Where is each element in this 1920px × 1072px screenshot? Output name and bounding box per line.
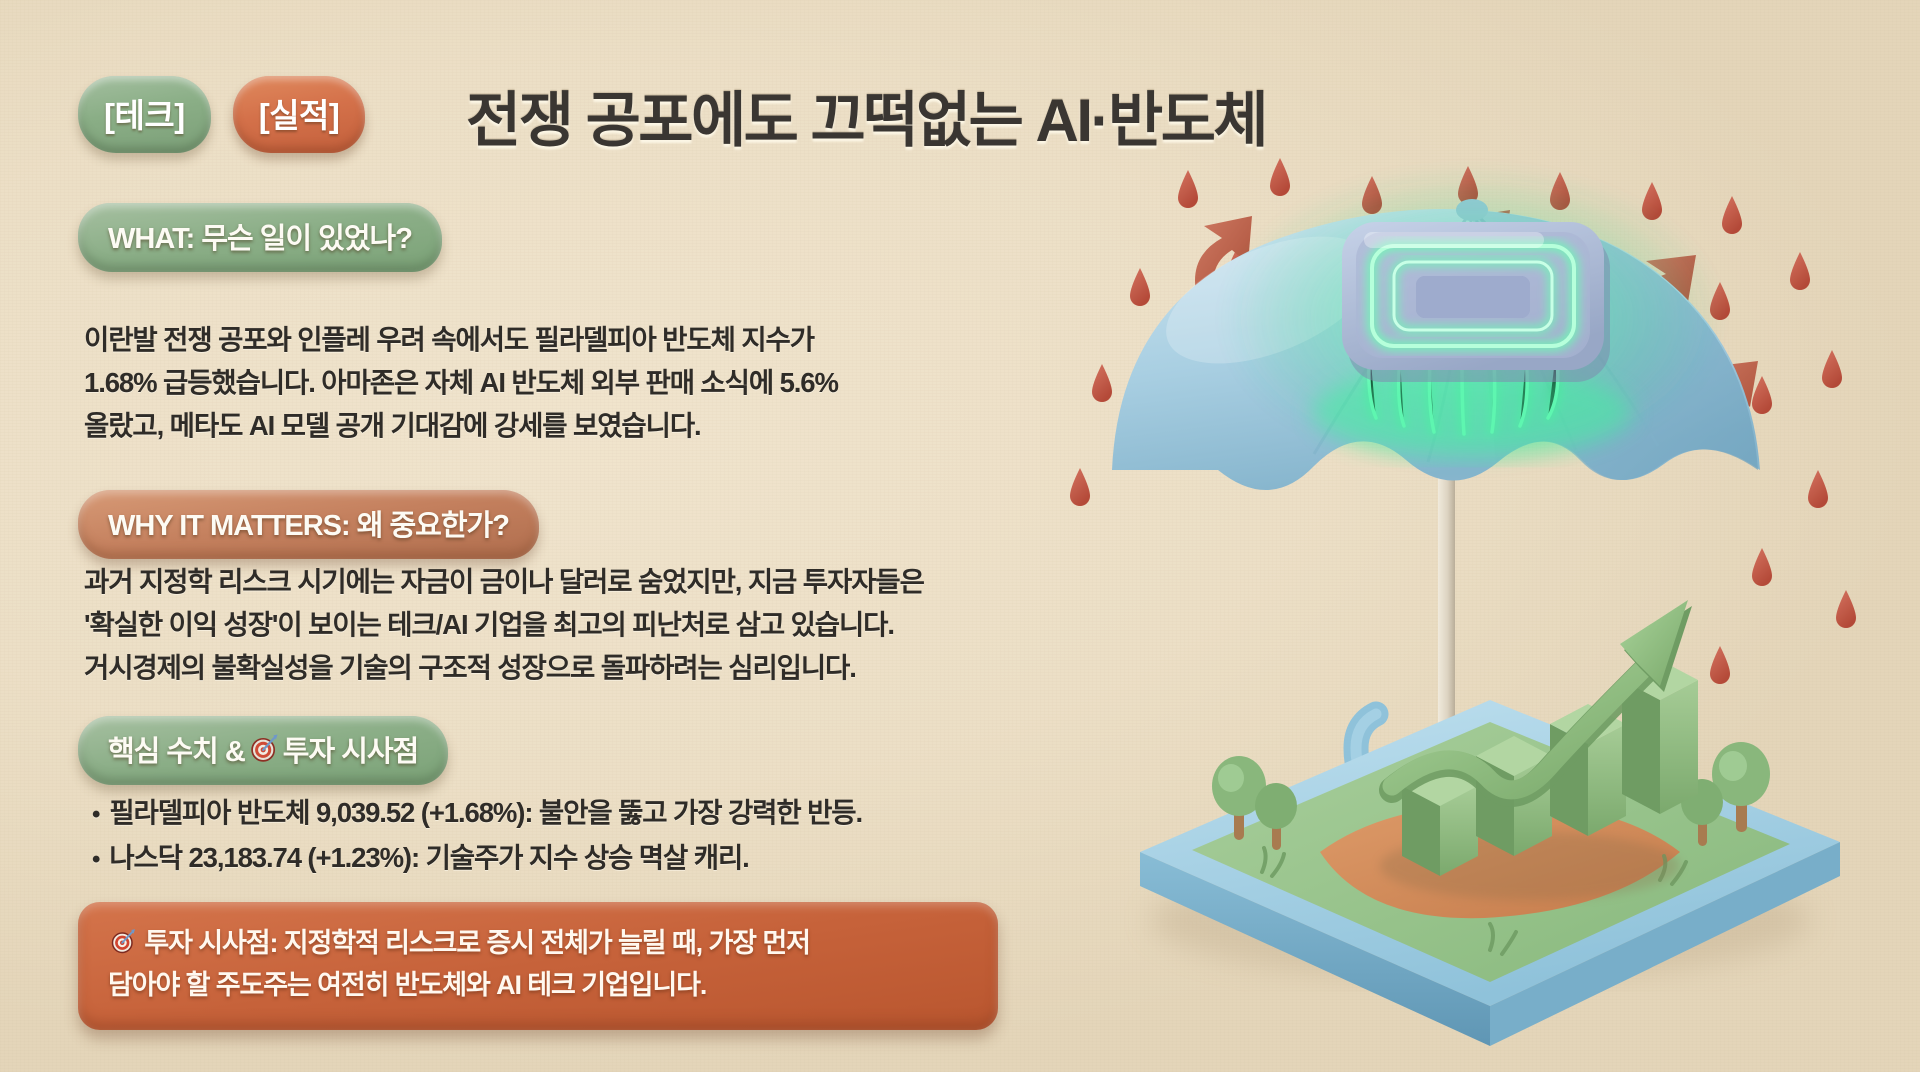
what-line-1: 이란발 전쟁 공포와 인플레 우려 속에서도 필라델피아 반도체 지수가 <box>84 318 838 361</box>
callout-line-2: 담아야 할 주도주는 여전히 반도체와 AI 테크 기업입니다. <box>108 964 968 1006</box>
section-badge-key-numbers: 핵심 수치 & 투자 시사점 <box>78 716 448 785</box>
illustration-umbrella-chip-chart <box>1020 0 1920 1072</box>
dart-target-icon <box>108 927 138 957</box>
dart-target-icon <box>247 732 281 766</box>
bullet-text: 나스닥 23,183.74 (+1.23%): 기술주가 지수 상승 멱살 캐리… <box>109 835 748 880</box>
callout-line-1: 투자 시사점: 지정학적 리스크로 증시 전체가 늘릴 때, 가장 먼저 <box>108 922 968 964</box>
list-item: • 필라델피아 반도체 9,039.52 (+1.68%): 불안을 뚫고 가장… <box>92 790 862 835</box>
bullet-marker: • <box>92 803 99 827</box>
why-line-3: 거시경제의 불확실성을 기술의 구조적 성장으로 돌파하려는 심리입니다. <box>84 646 924 689</box>
why-line-2: '확실한 이익 성장'이 보이는 테크/AI 기업을 최고의 피난처로 삼고 있… <box>84 603 924 646</box>
key-numbers-list: • 필라델피아 반도체 9,039.52 (+1.68%): 불안을 뚫고 가장… <box>92 790 862 880</box>
callout-text-1: 투자 시사점: 지정학적 리스크로 증시 전체가 늘릴 때, 가장 먼저 <box>138 928 810 958</box>
what-line-2: 1.68% 급등했습니다. 아마존은 자체 AI 반도체 외부 판매 소식에 5… <box>84 361 838 404</box>
section-body-why: 과거 지정학 리스크 시기에는 자금이 금이나 달러로 숨었지만, 지금 투자자… <box>84 560 924 689</box>
why-line-1: 과거 지정학 리스크 시기에는 자금이 금이나 달러로 숨었지만, 지금 투자자… <box>84 560 924 603</box>
section-badge-what: WHAT: 무슨 일이 있었나? <box>78 203 442 272</box>
what-line-3: 올랐고, 메타도 AI 모델 공개 기대감에 강세를 보였습니다. <box>84 404 838 447</box>
list-item: • 나스닥 23,183.74 (+1.23%): 기술주가 지수 상승 멱살 … <box>92 835 862 880</box>
tag-tech[interactable]: [테크] <box>78 76 211 153</box>
key-numbers-badge-suffix: 투자 시사점 <box>283 728 418 770</box>
bullet-text: 필라델피아 반도체 9,039.52 (+1.68%): 불안을 뚫고 가장 강… <box>109 790 862 835</box>
tag-row: [테크] [실적] <box>78 76 365 153</box>
section-badge-why: WHY IT MATTERS: 왜 중요한가? <box>78 490 539 559</box>
section-body-what: 이란발 전쟁 공포와 인플레 우려 속에서도 필라델피아 반도체 지수가 1.6… <box>84 318 838 447</box>
investment-callout: 투자 시사점: 지정학적 리스크로 증시 전체가 늘릴 때, 가장 먼저 담아야… <box>78 902 998 1030</box>
glowing-cpu-chip <box>1312 222 1632 458</box>
key-numbers-badge-prefix: 핵심 수치 & <box>108 728 245 770</box>
content-column: [테크] [실적] 전쟁 공포에도 끄떡없는 AI·반도체 WHAT: 무슨 일… <box>0 0 1060 1072</box>
tag-earnings[interactable]: [실적] <box>233 76 366 153</box>
bullet-marker: • <box>92 848 99 872</box>
